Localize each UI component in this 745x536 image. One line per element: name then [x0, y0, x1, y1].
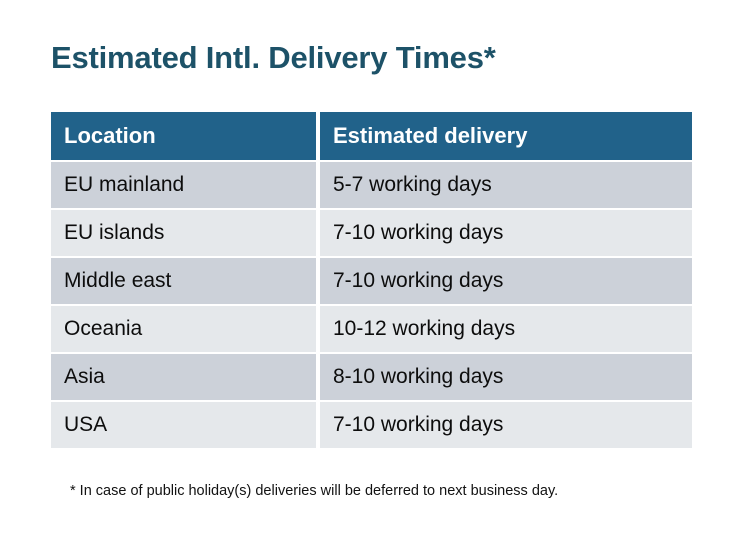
- cell-location: EU mainland: [51, 162, 316, 208]
- cell-location: Middle east: [51, 258, 316, 304]
- table-row: Oceania 10-12 working days: [51, 306, 692, 352]
- table-header-row: Location Estimated delivery: [51, 112, 692, 160]
- table-row: USA 7-10 working days: [51, 402, 692, 448]
- table-row: EU mainland 5-7 working days: [51, 162, 692, 208]
- table-row: EU islands 7-10 working days: [51, 210, 692, 256]
- cell-location: USA: [51, 402, 316, 448]
- cell-estimated-delivery: 5-7 working days: [320, 162, 692, 208]
- cell-location: EU islands: [51, 210, 316, 256]
- cell-estimated-delivery: 7-10 working days: [320, 258, 692, 304]
- cell-location: Asia: [51, 354, 316, 400]
- table-row: Middle east 7-10 working days: [51, 258, 692, 304]
- column-header-location: Location: [51, 112, 316, 160]
- column-header-estimated-delivery: Estimated delivery: [320, 112, 692, 160]
- cell-estimated-delivery: 10-12 working days: [320, 306, 692, 352]
- page-title: Estimated Intl. Delivery Times*: [51, 38, 496, 78]
- cell-estimated-delivery: 7-10 working days: [320, 402, 692, 448]
- cell-estimated-delivery: 7-10 working days: [320, 210, 692, 256]
- delivery-times-page: Estimated Intl. Delivery Times* Location…: [0, 0, 745, 536]
- delivery-times-table: Location Estimated delivery EU mainland …: [51, 112, 692, 450]
- footnote-text: * In case of public holiday(s) deliverie…: [70, 481, 558, 501]
- cell-estimated-delivery: 8-10 working days: [320, 354, 692, 400]
- cell-location: Oceania: [51, 306, 316, 352]
- table-row: Asia 8-10 working days: [51, 354, 692, 400]
